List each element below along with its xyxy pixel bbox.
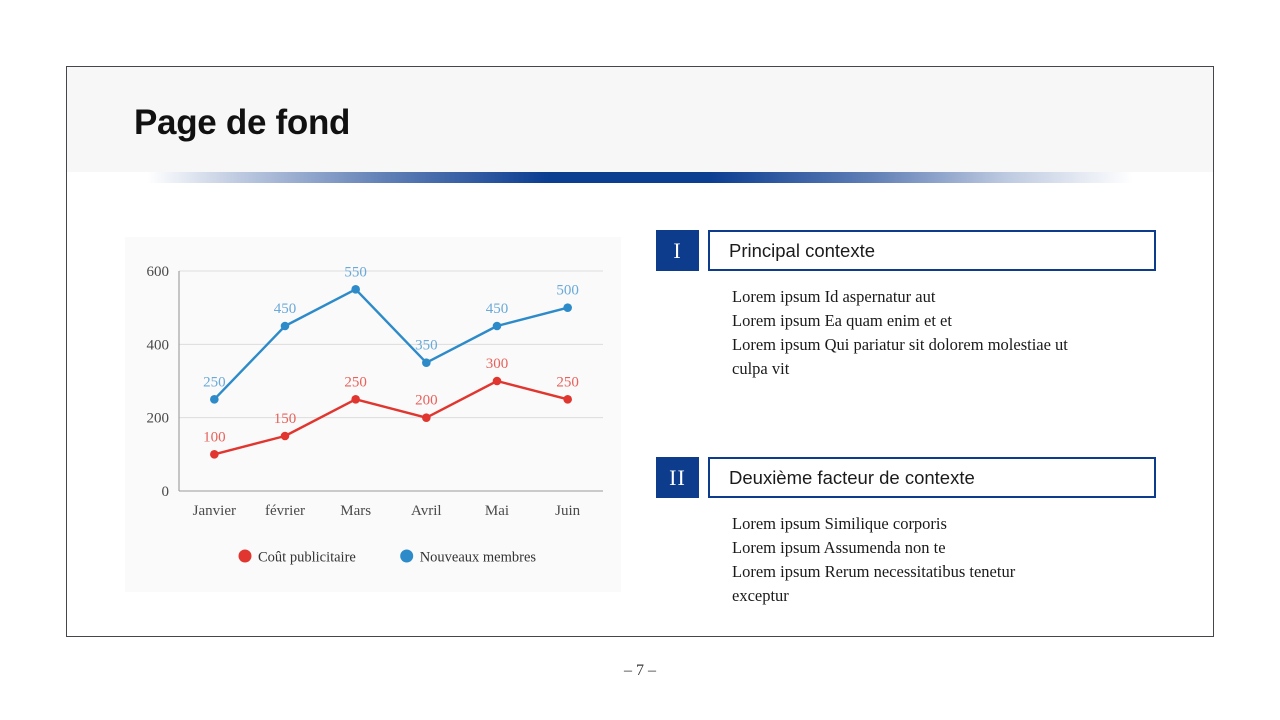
data-label: 250 (203, 374, 226, 390)
data-point (563, 395, 572, 404)
y-axis-tick-label: 400 (147, 337, 170, 353)
y-axis-tick-label: 0 (162, 484, 170, 500)
data-label: 300 (486, 356, 509, 372)
x-axis-tick-label: Mai (485, 503, 509, 519)
legend-label: Nouveaux membres (420, 550, 537, 566)
data-label: 450 (486, 301, 509, 317)
data-point (351, 285, 360, 294)
body-line: Lorem ipsum Qui pariatur sit dolorem mol… (732, 333, 1142, 357)
legend-marker (400, 550, 413, 563)
data-label: 450 (274, 301, 297, 317)
body-line: Lorem ipsum Rerum necessitatibus tenetur (732, 560, 1142, 584)
data-point (493, 377, 502, 386)
section-two-body: Lorem ipsum Similique corporisLorem ipsu… (656, 512, 1142, 608)
data-point (493, 322, 502, 331)
x-axis-tick-label: Avril (411, 503, 442, 519)
data-point (281, 322, 290, 331)
x-axis-tick-label: Janvier (193, 503, 236, 519)
data-point (210, 450, 219, 459)
section-one-heading: Principal contexte (710, 240, 875, 262)
data-point (422, 413, 431, 422)
section-two-numeral: II (656, 457, 699, 498)
x-axis-tick-label: Mars (340, 503, 371, 519)
page-number: – 7 – (0, 662, 1280, 680)
data-label: 150 (274, 411, 297, 427)
section-two: II Deuxième facteur de contexte Lorem ip… (656, 457, 1156, 608)
body-line: exceptur (732, 584, 1142, 608)
data-label: 250 (344, 374, 367, 390)
accent-gradient-bar (67, 172, 1213, 183)
x-axis-tick-label: Juin (555, 503, 581, 519)
slide-header-band: Page de fond (67, 67, 1213, 172)
section-one: I Principal contexte Lorem ipsum Id aspe… (656, 230, 1156, 381)
data-label: 550 (344, 264, 367, 280)
legend-label: Coût publicitaire (258, 550, 356, 566)
section-two-heading-box[interactable]: Deuxième facteur de contexte (708, 457, 1156, 498)
slide-frame: Page de fond 0200400600JanvierfévrierMar… (66, 66, 1214, 637)
body-line: Lorem ipsum Similique corporis (732, 512, 1142, 536)
body-line: culpa vit (732, 357, 1142, 381)
data-label: 250 (556, 374, 579, 390)
body-line: Lorem ipsum Ea quam enim et et (732, 309, 1142, 333)
data-label: 500 (556, 283, 579, 299)
data-point (210, 395, 219, 404)
section-one-heading-box[interactable]: Principal contexte (708, 230, 1156, 271)
content-column: I Principal contexte Lorem ipsum Id aspe… (656, 230, 1156, 608)
data-point (351, 395, 360, 404)
x-axis-tick-label: février (265, 503, 305, 519)
section-two-heading: Deuxième facteur de contexte (710, 467, 975, 489)
body-line: Lorem ipsum Assumenda non te (732, 536, 1142, 560)
y-axis-tick-label: 200 (147, 411, 170, 427)
data-label: 100 (203, 429, 226, 445)
data-label: 200 (415, 393, 438, 409)
data-label: 350 (415, 338, 438, 354)
section-two-header[interactable]: II Deuxième facteur de contexte (656, 457, 1156, 498)
data-point (563, 303, 572, 312)
line-chart: 0200400600JanvierfévrierMarsAvrilMaiJuin… (125, 237, 621, 592)
page-title: Page de fond (134, 103, 350, 143)
data-point (281, 432, 290, 441)
data-point (422, 358, 431, 367)
legend-marker (239, 550, 252, 563)
section-one-header[interactable]: I Principal contexte (656, 230, 1156, 271)
body-line: Lorem ipsum Id aspernatur aut (732, 285, 1142, 309)
section-one-numeral: I (656, 230, 699, 271)
y-axis-tick-label: 600 (147, 264, 170, 280)
section-one-body: Lorem ipsum Id aspernatur autLorem ipsum… (656, 285, 1142, 381)
chart-panel: 0200400600JanvierfévrierMarsAvrilMaiJuin… (125, 237, 621, 592)
